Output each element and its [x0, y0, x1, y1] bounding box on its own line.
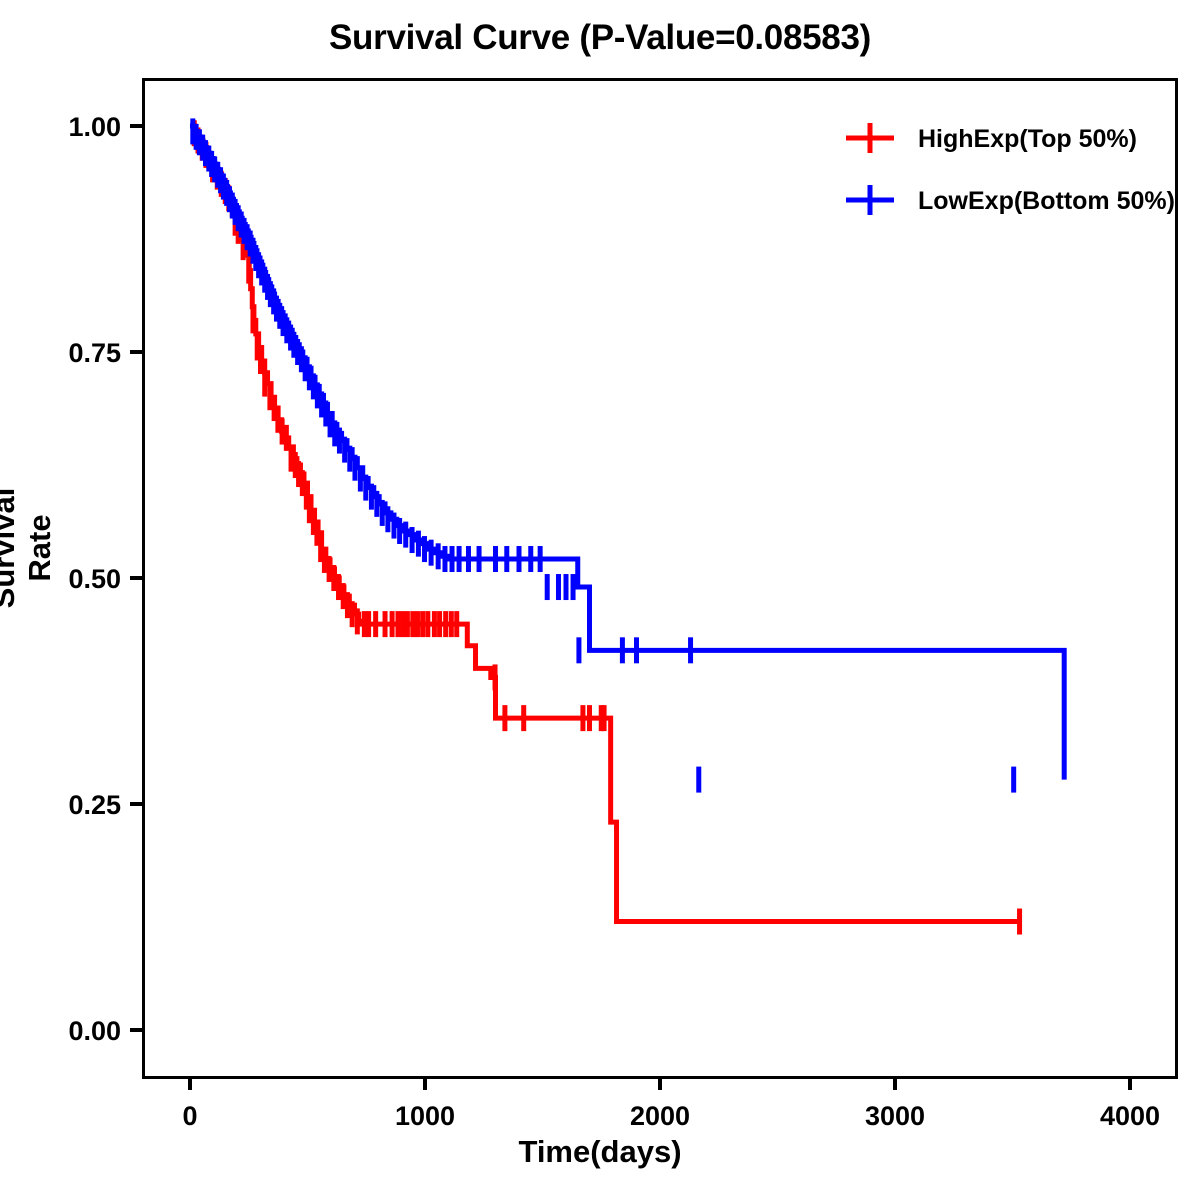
legend: HighExp(Top 50%)LowExp(Bottom 50%): [846, 123, 1175, 215]
censor-marks: [193, 0, 1064, 793]
series-lowexp: [190, 0, 1064, 793]
series-highexp: [190, 120, 1020, 934]
x-axis-title: Time(days): [0, 1134, 1200, 1170]
x-axis: 01000200030004000: [182, 1077, 1160, 1131]
censor-marks: [194, 120, 1019, 934]
y-tick-label: 0.00: [68, 1016, 121, 1046]
x-tick-label: 2000: [630, 1101, 690, 1131]
legend-label: HighExp(Top 50%): [918, 125, 1137, 153]
y-tick-label: 0.75: [68, 338, 121, 368]
y-tick-label: 1.00: [68, 112, 121, 142]
x-tick-label: 3000: [865, 1101, 925, 1131]
legend-item-highexp[interactable]: HighExp(Top 50%): [846, 123, 1137, 153]
x-tick-label: 1000: [395, 1101, 455, 1131]
legend-label: LowExp(Bottom 50%): [918, 187, 1175, 215]
y-tick-label: 0.50: [68, 564, 121, 594]
survival-plot: 01000200030004000 0.000.250.500.751.00 H…: [0, 0, 1200, 1200]
y-tick-label: 0.25: [68, 790, 121, 820]
legend-item-lowexp[interactable]: LowExp(Bottom 50%): [846, 185, 1175, 215]
chart-page: Survival Curve (P-Value=0.08583) 0100020…: [0, 0, 1200, 1200]
y-axis: 0.000.250.500.751.00: [68, 112, 143, 1046]
step-line: [190, 126, 1064, 780]
x-tick-label: 0: [182, 1101, 197, 1131]
x-tick-label: 4000: [1100, 1101, 1160, 1131]
y-axis-title: Survival Rate: [0, 468, 58, 628]
